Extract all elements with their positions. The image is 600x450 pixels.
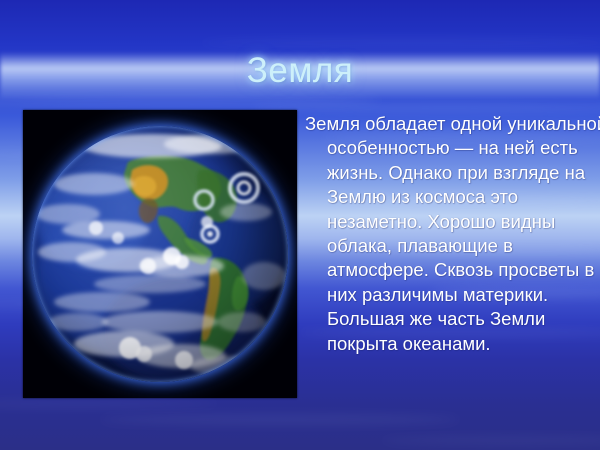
cloud-streak: [100, 414, 460, 425]
presentation-slide: Земля: [0, 0, 600, 450]
slide-title: Земля: [0, 50, 600, 92]
earth-sphere: [32, 126, 288, 382]
cloud-streak: [200, 38, 600, 48]
earth-image-frame: [23, 110, 297, 398]
earth-globe: [32, 126, 288, 382]
earth-surface-icon: [32, 126, 288, 382]
slide-body-text: Земля обладает одной уникальной особенно…: [305, 112, 600, 356]
body-paragraph: Земля обладает одной уникальной особенно…: [327, 112, 600, 356]
